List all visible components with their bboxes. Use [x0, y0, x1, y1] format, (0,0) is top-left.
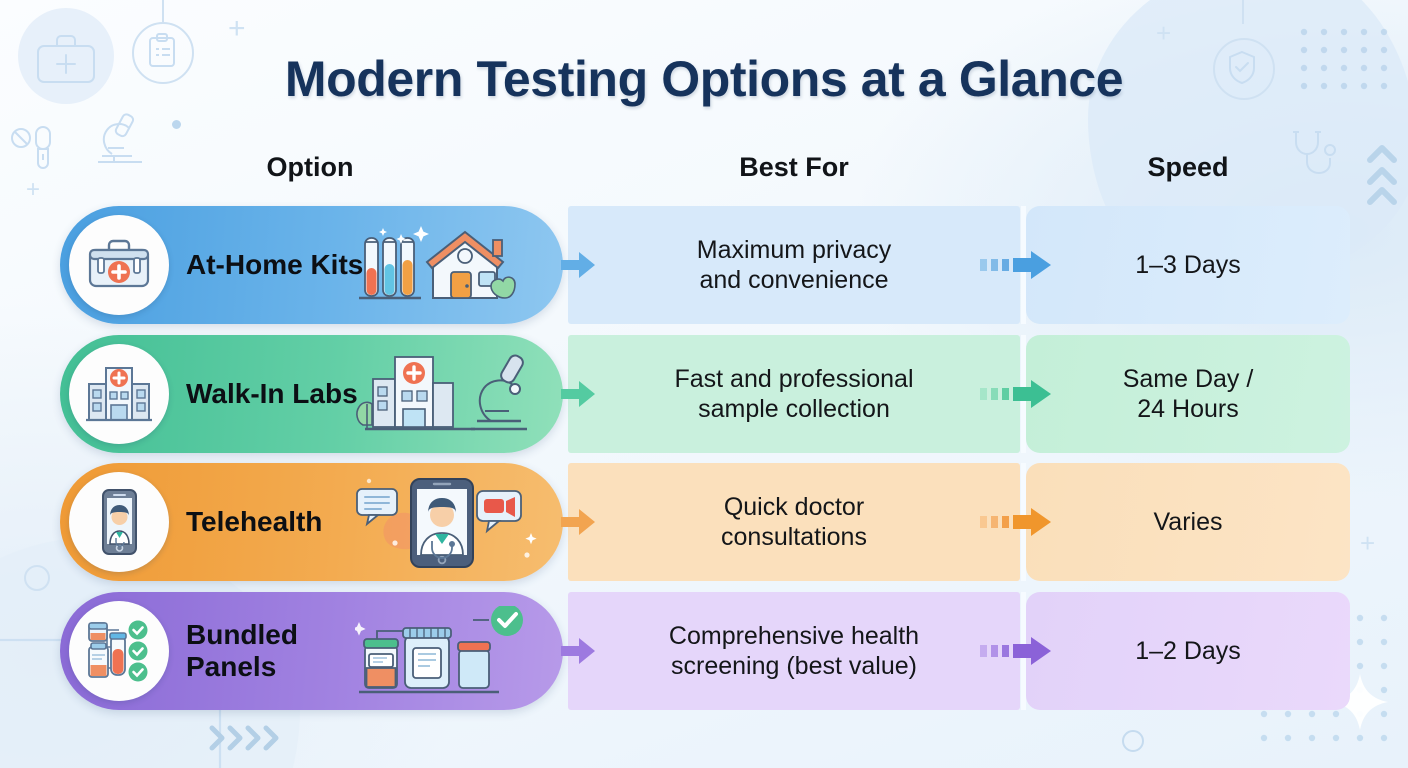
test-tubes-and-house-icon — [355, 220, 545, 312]
infographic-canvas: + + + + — [0, 0, 1408, 768]
table-row: Maximum privacy and convenience 1–3 Days — [0, 206, 1408, 324]
best-for-line-2: sample collection — [674, 394, 913, 425]
flow-arrow-icon — [980, 636, 1052, 666]
swab-test-icon — [8, 115, 68, 175]
speed-cell: 1–2 Days — [1026, 592, 1350, 710]
option-label: Walk-In Labs — [186, 335, 358, 453]
page-title: Modern Testing Options at a Glance — [0, 50, 1408, 108]
speed-line-1: Varies — [1153, 507, 1222, 538]
plus-icon: + — [228, 14, 246, 44]
speed-cell: 1–3 Days — [1026, 206, 1350, 324]
avatar — [69, 344, 169, 444]
option-label-line-2: Panels — [186, 651, 298, 683]
chevron-right-icon — [208, 722, 288, 754]
flow-arrow-icon — [561, 636, 597, 666]
table-row: Comprehensive health screening (best val… — [0, 592, 1408, 710]
lab-bottles-check-icon — [355, 606, 545, 698]
option-label: At-Home Kits — [186, 206, 363, 324]
flow-arrow-icon — [561, 250, 597, 280]
speed-line-1: Same Day / — [1123, 364, 1254, 395]
flow-arrow-icon — [980, 250, 1052, 280]
table-row: Fast and professional sample collection … — [0, 335, 1408, 453]
speed-line-1: 1–2 Days — [1135, 636, 1241, 667]
column-header-speed: Speed — [1026, 152, 1350, 183]
flow-arrow-icon — [561, 379, 597, 409]
column-header-option: Option — [60, 152, 560, 183]
option-label: Telehealth — [186, 463, 322, 581]
option-pill-bundled-panels[interactable]: Bundled Panels — [60, 592, 563, 710]
best-for-line-1: Quick doctor — [721, 492, 867, 523]
best-for-line-1: Maximum privacy — [697, 235, 891, 266]
flow-arrow-icon — [980, 507, 1052, 537]
speed-line-2: 24 Hours — [1123, 394, 1254, 425]
hanging-line-right — [1242, 0, 1244, 24]
speed-line-1: 1–3 Days — [1135, 250, 1241, 281]
option-pill-telehealth[interactable]: Telehealth — [60, 463, 563, 581]
circle-outline-icon — [1122, 730, 1144, 752]
avatar — [69, 601, 169, 701]
speed-cell: Same Day / 24 Hours — [1026, 335, 1350, 453]
flow-arrow-icon — [980, 379, 1052, 409]
video-call-doctor-icon — [355, 477, 545, 569]
dot-decor — [172, 120, 181, 129]
phone-doctor-icon — [83, 486, 155, 558]
best-for-cell: Comprehensive health screening (best val… — [568, 592, 1020, 710]
first-aid-kit-icon — [82, 228, 156, 302]
plus-icon: + — [26, 178, 40, 202]
option-pill-walk-in-labs[interactable]: Walk-In Labs — [60, 335, 563, 453]
best-for-line-2: and convenience — [697, 265, 891, 296]
sample-vials-checklist-icon — [81, 613, 157, 689]
best-for-cell: Quick doctor consultations — [568, 463, 1020, 581]
hospital-building-icon — [83, 358, 155, 430]
best-for-cell: Fast and professional sample collection — [568, 335, 1020, 453]
table-row: Quick doctor consultations Varies — [0, 463, 1408, 581]
hanging-line-left — [162, 0, 164, 22]
option-label: Bundled Panels — [186, 592, 298, 710]
avatar — [69, 215, 169, 315]
best-for-line-1: Fast and professional — [674, 364, 913, 395]
avatar — [69, 472, 169, 572]
plus-icon: + — [1156, 20, 1171, 46]
column-header-best-for: Best For — [568, 152, 1020, 183]
best-for-line-2: screening (best value) — [669, 651, 919, 682]
option-label-line-1: Bundled — [186, 619, 298, 651]
chevron-up-icon — [1364, 140, 1400, 208]
speed-cell: Varies — [1026, 463, 1350, 581]
option-pill-at-home-kits[interactable]: At-Home Kits — [60, 206, 563, 324]
flow-arrow-icon — [561, 507, 597, 537]
best-for-line-2: consultations — [721, 522, 867, 553]
clinic-and-microscope-icon — [355, 349, 545, 441]
best-for-line-1: Comprehensive health — [669, 621, 919, 652]
best-for-cell: Maximum privacy and convenience — [568, 206, 1020, 324]
